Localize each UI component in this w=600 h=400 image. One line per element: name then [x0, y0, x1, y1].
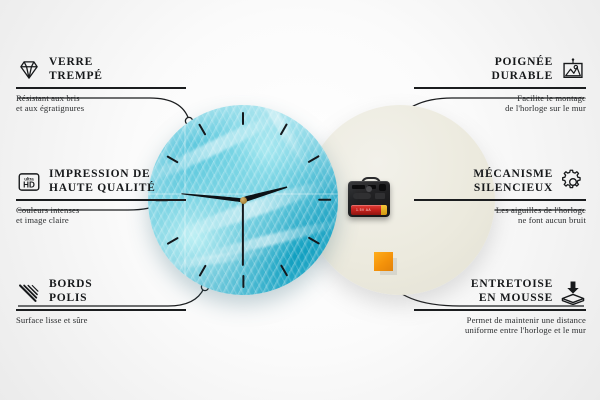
feature-title: IMPRESSION DE HAUTE QUALITÉ — [49, 168, 156, 195]
mechanism-battery: 1.5V AA — [351, 205, 387, 215]
feature-title: BORDS POLIS — [49, 278, 92, 305]
foam-spacer-square — [374, 252, 393, 271]
picture-hanger-icon — [560, 57, 586, 83]
divider — [414, 309, 586, 311]
feature-title: ENTRETOISE EN MOUSSE — [471, 278, 553, 305]
clock-second-hand — [242, 200, 244, 266]
feature-poignee-durable: POIGNÉE DURABLE Facilite le montage de l… — [414, 56, 586, 114]
feature-subtitle: Couleurs intenses et image claire — [16, 205, 186, 226]
ultra-hd-icon: ultra HD — [16, 169, 42, 195]
battery-positive-terminal — [381, 205, 387, 215]
hour-marker — [166, 236, 178, 245]
feature-subtitle: Surface lisse et sûre — [16, 315, 186, 326]
feature-title: POIGNÉE DURABLE — [492, 56, 553, 83]
hour-marker — [242, 275, 244, 288]
feature-entretoise-en-mousse: ENTRETOISE EN MOUSSE Permet de maintenir… — [414, 278, 586, 336]
divider — [414, 199, 586, 201]
hour-marker — [279, 123, 288, 135]
foam-spacer-icon — [560, 279, 586, 305]
hour-marker — [198, 264, 207, 276]
feature-mecanisme-silencieux: MÉCANISME SILENCIEUX Les aiguilles de l'… — [414, 168, 586, 226]
infographic-canvas: 1.5V AA — [0, 0, 600, 400]
feature-bords-polis: BORDS POLIS Surface lisse et sûre — [16, 278, 186, 325]
clock-hand-cap — [240, 197, 247, 204]
mechanism-shaft — [366, 186, 372, 192]
battery-label: 1.5V AA — [356, 208, 371, 212]
hour-marker — [198, 123, 207, 135]
hour-marker — [307, 236, 319, 245]
feature-subtitle: Résistant aux bris et aux égratignures — [16, 93, 186, 114]
divider — [16, 199, 186, 201]
clock-minute-hand — [181, 191, 243, 202]
feature-impression-haute-qualite: ultra HD IMPRESSION DE HAUTE QUALITÉ Cou… — [16, 168, 186, 226]
feature-title: VERRE TREMPÉ — [49, 56, 103, 83]
gear-icon — [560, 169, 586, 195]
feature-verre-trempe: VERRE TREMPÉ Résistant aux bris et aux é… — [16, 56, 186, 114]
feature-subtitle: Facilite le montage de l'horloge sur le … — [414, 93, 586, 114]
feature-subtitle: Permet de maintenir une distance uniform… — [414, 315, 586, 336]
polished-edges-icon — [16, 279, 42, 305]
divider — [16, 309, 186, 311]
hour-marker — [318, 199, 331, 201]
hour-marker — [279, 264, 288, 276]
divider — [414, 87, 586, 89]
clock-mechanism: 1.5V AA — [348, 177, 390, 217]
hour-marker — [166, 155, 178, 164]
hour-marker — [242, 112, 244, 125]
feature-title: MÉCANISME SILENCIEUX — [473, 168, 553, 195]
divider — [16, 87, 186, 89]
svg-text:HD: HD — [23, 180, 35, 189]
hour-marker — [307, 155, 319, 164]
diamond-icon — [16, 57, 42, 83]
clock-hour-hand — [242, 185, 288, 203]
feature-subtitle: Les aiguilles de l'horloge ne font aucun… — [414, 205, 586, 226]
